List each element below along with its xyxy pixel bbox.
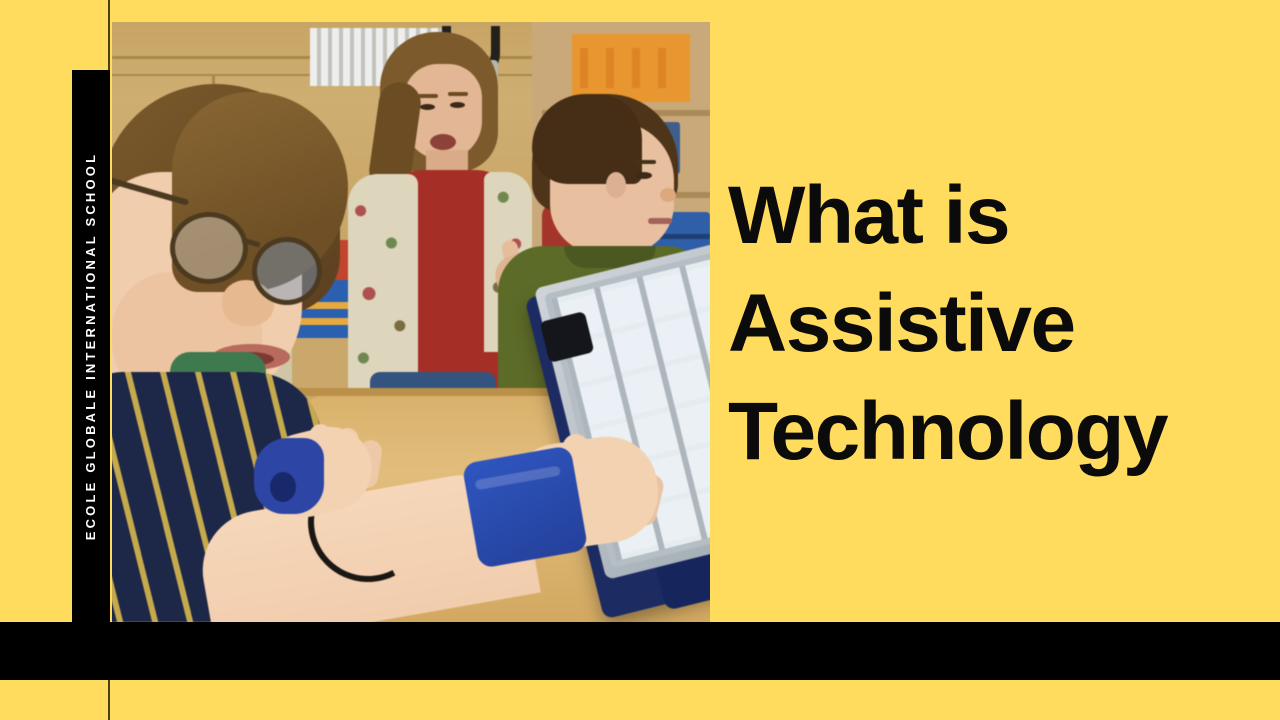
second-student-eye xyxy=(636,172,652,179)
second-student-ear xyxy=(606,172,626,198)
teacher-eyebrow xyxy=(418,94,438,98)
second-student-eyebrow xyxy=(634,160,656,164)
storage-bin xyxy=(572,34,690,102)
classroom-photo xyxy=(112,22,710,622)
hand-support-opening xyxy=(270,472,296,502)
footer-bar xyxy=(0,622,1280,680)
page-title: What is Assistive Technology xyxy=(728,162,1258,486)
slide-canvas: ECOLE GLOBALE INTERNATIONAL SCHOOL What … xyxy=(0,0,1280,720)
glasses-lens-left xyxy=(170,212,248,284)
organization-sidebar: ECOLE GLOBALE INTERNATIONAL SCHOOL xyxy=(72,70,110,622)
title-line-1: What is xyxy=(728,162,1258,270)
second-student-nose xyxy=(660,188,676,202)
teacher-floral-cardigan xyxy=(348,174,418,404)
teacher-eye xyxy=(420,104,435,110)
teacher-eyebrow xyxy=(448,92,468,96)
blue-wrist-wrap xyxy=(462,445,589,568)
title-line-3: Technology xyxy=(728,378,1258,486)
glasses-lens-right xyxy=(252,237,322,305)
second-student-hair-front xyxy=(532,94,642,184)
teacher-eye xyxy=(450,102,465,108)
teacher-mouth xyxy=(430,134,456,150)
title-line-2: Assistive xyxy=(728,270,1258,378)
organization-name-label: ECOLE GLOBALE INTERNATIONAL SCHOOL xyxy=(81,76,101,616)
second-student-mouth xyxy=(648,218,672,224)
